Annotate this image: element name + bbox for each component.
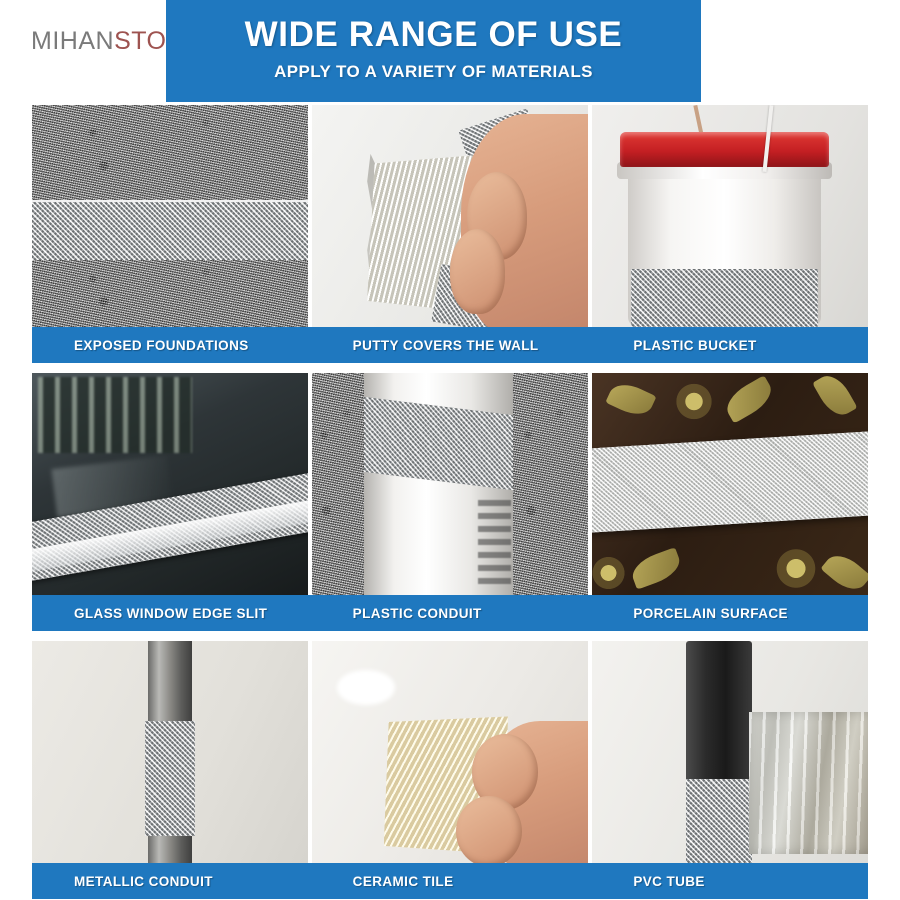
brand-name-primary: MIHAN xyxy=(31,27,114,55)
tape-wrap xyxy=(686,779,752,863)
page-title: WIDE RANGE OF USE xyxy=(167,14,700,55)
foil-creases xyxy=(749,712,868,854)
concrete-texture-top xyxy=(32,105,308,203)
concrete-wall-right xyxy=(511,373,588,595)
caption-exposed-foundations: EXPOSED FOUNDATIONS xyxy=(32,338,309,353)
page-subtitle: APPLY TO A VARIETY OF MATERIALS xyxy=(167,61,700,83)
caption-plastic-bucket: PLASTIC BUCKET xyxy=(587,338,868,353)
window-reflection-bars xyxy=(38,377,193,452)
photo-exposed-foundations xyxy=(32,105,308,327)
bucket-lid xyxy=(620,132,830,168)
caption-ceramic-tile: CERAMIC TILE xyxy=(309,874,588,889)
photo-row-3 xyxy=(32,641,868,863)
caption-putty-covers-the-wall: PUTTY COVERS THE WALL xyxy=(309,338,588,353)
pipe-printed-marking xyxy=(478,495,511,584)
photo-plastic-bucket xyxy=(592,105,868,327)
photo-glass-window-edge-slit xyxy=(32,373,308,595)
light-reflection xyxy=(337,670,395,706)
photo-pvc-tube xyxy=(592,641,868,863)
tape-wrap xyxy=(145,721,195,836)
grid-row-1: EXPOSED FOUNDATIONS PUTTY COVERS THE WAL… xyxy=(32,105,868,363)
tape-band xyxy=(592,431,868,533)
photo-porcelain-surface xyxy=(592,373,868,595)
caption-pvc-tube: PVC TUBE xyxy=(587,874,868,889)
caption-plastic-conduit: PLASTIC CONDUIT xyxy=(309,606,588,621)
photo-row-1 xyxy=(32,105,868,327)
header-banner: WIDE RANGE OF USE APPLY TO A VARIETY OF … xyxy=(167,0,700,101)
grid-row-3: METALLIC CONDUIT CERAMIC TILE PVC TUBE xyxy=(32,641,868,899)
caption-porcelain-surface: PORCELAIN SURFACE xyxy=(587,606,868,621)
caption-bar-row-3: METALLIC CONDUIT CERAMIC TILE PVC TUBE xyxy=(32,863,868,899)
photo-row-2 xyxy=(32,373,868,595)
photo-putty-covers-the-wall xyxy=(312,105,588,327)
caption-bar-row-2: GLASS WINDOW EDGE SLIT PLASTIC CONDUIT P… xyxy=(32,595,868,631)
tape-strip xyxy=(32,200,308,267)
pvc-tube xyxy=(686,641,752,792)
photo-plastic-conduit xyxy=(312,373,588,595)
caption-glass-window-edge-slit: GLASS WINDOW EDGE SLIT xyxy=(32,606,309,621)
row-divider-2 xyxy=(32,631,868,641)
grid-row-2: GLASS WINDOW EDGE SLIT PLASTIC CONDUIT P… xyxy=(32,373,868,631)
photo-ceramic-tile xyxy=(312,641,588,863)
photo-metallic-conduit xyxy=(32,641,308,863)
row-divider-1 xyxy=(32,363,868,373)
application-grid: EXPOSED FOUNDATIONS PUTTY COVERS THE WAL… xyxy=(32,105,868,899)
tape-wrap xyxy=(631,269,819,327)
concrete-texture-bottom xyxy=(32,260,308,327)
caption-bar-row-1: EXPOSED FOUNDATIONS PUTTY COVERS THE WAL… xyxy=(32,327,868,363)
finger-lower xyxy=(456,796,522,863)
finger-lower xyxy=(450,229,505,313)
caption-metallic-conduit: METALLIC CONDUIT xyxy=(32,874,309,889)
concrete-wall-left xyxy=(312,373,367,595)
floral-motif xyxy=(763,542,829,595)
